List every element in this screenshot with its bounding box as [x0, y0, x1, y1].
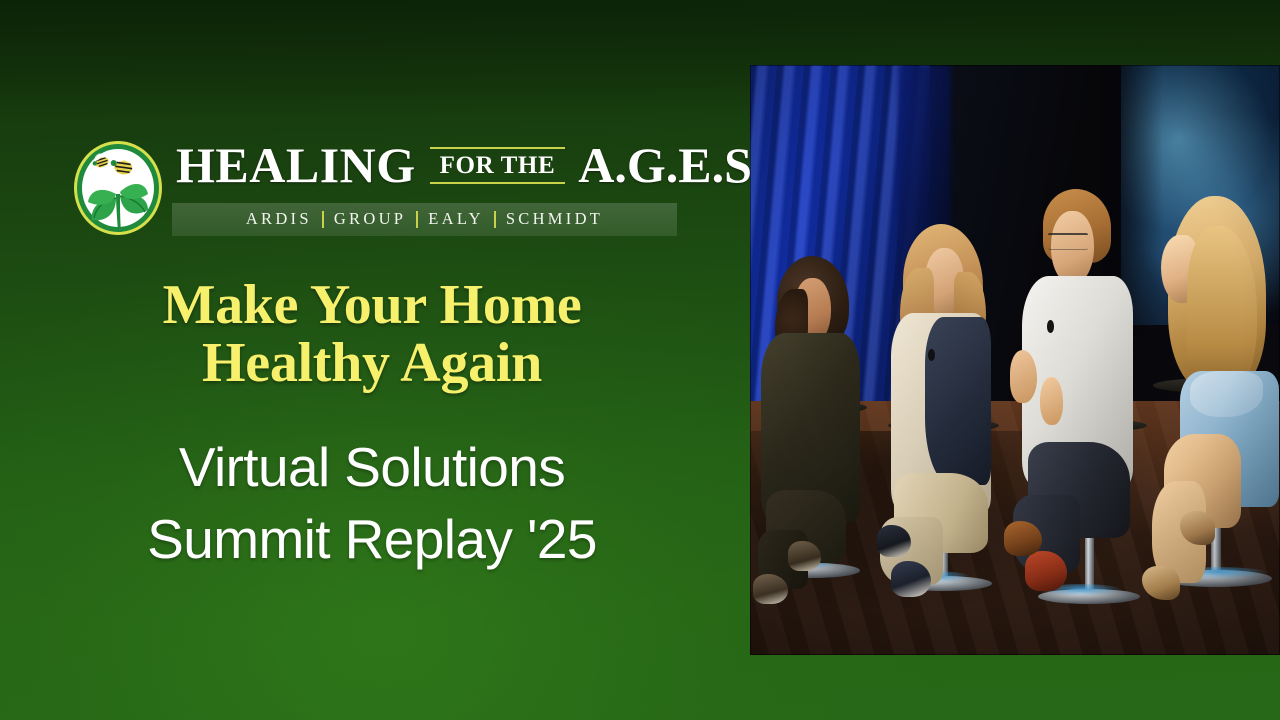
wordmark-healing: HEALING — [176, 140, 416, 190]
founder-name-ardis: ARDIS — [236, 211, 322, 228]
bees-and-plant-emblem-icon — [66, 136, 170, 240]
wordmark: HEALING FOR THE A.G.E.S. — [176, 132, 686, 198]
photo-border — [750, 65, 1280, 655]
headline-line-1: Make Your Home — [0, 276, 744, 334]
wordmark-ages: A.G.E.S. — [578, 140, 764, 190]
founder-name-group: GROUP — [324, 211, 416, 228]
wordmark-forthe: FOR THE — [440, 152, 556, 179]
headline: Make Your Home Healthy Again — [0, 276, 744, 392]
wordmark-forthe-rule: FOR THE — [430, 146, 566, 185]
panel-photo — [750, 65, 1280, 655]
founder-names-bar: ARDIS GROUP EALY SCHMIDT — [172, 203, 677, 236]
headline-line-2: Healthy Again — [0, 334, 744, 392]
founder-name-schmidt: SCHMIDT — [496, 211, 613, 228]
subtitle-line-2: Summit Replay '25 — [0, 503, 744, 575]
promo-graphic: HEALING FOR THE A.G.E.S. ARDIS GROUP EAL… — [0, 0, 1280, 720]
founder-name-ealy: EALY — [418, 211, 494, 228]
subtitle: Virtual Solutions Summit Replay '25 — [0, 431, 744, 575]
subtitle-line-1: Virtual Solutions — [0, 431, 744, 503]
